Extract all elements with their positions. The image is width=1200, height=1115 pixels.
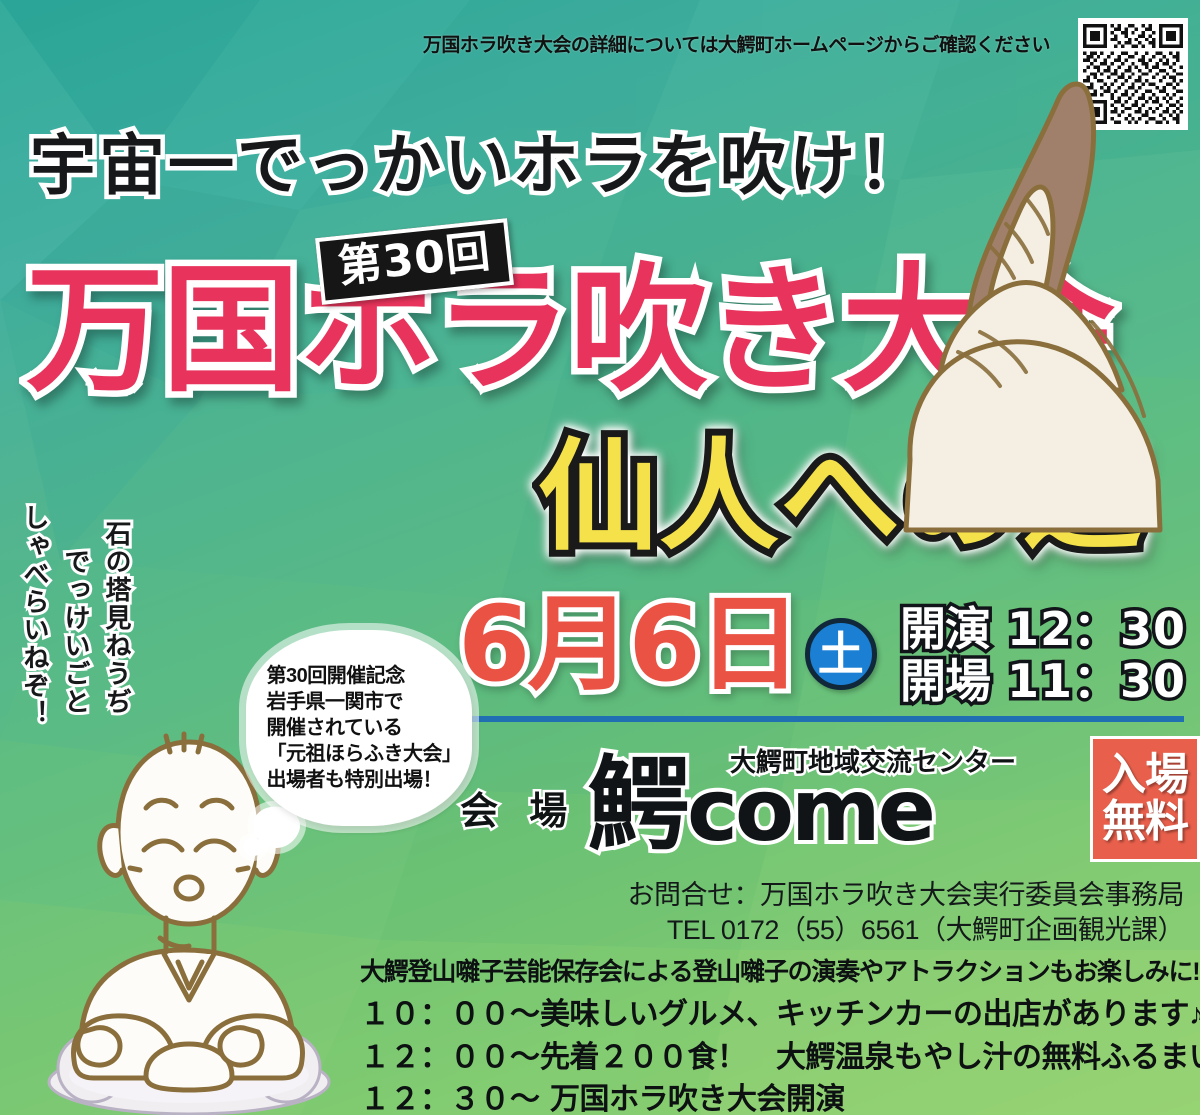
venue-name-latin: come: [687, 761, 933, 861]
stone-tower-mountain-icon: [830, 60, 1200, 540]
schedule-section: 大鰐登山囃子芸能保存会による登山囃子の演奏やアトラクションもお楽しみに!! １０…: [0, 952, 1200, 1115]
event-date: 6月6日 土: [458, 592, 877, 696]
venue-label: 会 場: [460, 780, 576, 835]
venue-section: 会 場 大鰐町地域交流センター 鰐come 入場 無料: [460, 742, 1200, 862]
schedule-row: １２：３０〜 万国ホラ吹き大会開演: [360, 1079, 1200, 1115]
speech-bubble-line-2: 岩手県一関市で: [267, 689, 462, 715]
schedule-time: １０：００〜: [360, 994, 540, 1037]
speech-bubble: 第30回開催記念 岩手県一関市で 開催されている 「元祖ほらふき大会」 出場者も…: [246, 630, 472, 826]
start-time-value: 12：30: [1007, 602, 1186, 656]
contact-line-1: お問合せ：万国ホラ吹き大会実行委員会事務局: [0, 878, 1184, 913]
vertical-note-line-2: でっけいごと: [57, 548, 94, 728]
venue-name-kanji: 鰐: [588, 746, 687, 865]
speech-bubble-line-4: 「元祖ほらふき大会」: [267, 741, 462, 767]
contact-info: お問合せ：万国ホラ吹き大会実行委員会事務局 TEL 0172（55）6561（大…: [0, 878, 1200, 948]
free-admission-line-1: 入場: [1102, 752, 1188, 799]
open-time-value: 11：30: [1007, 654, 1186, 708]
open-time-row: 開場 11：30: [900, 656, 1186, 708]
schedule-time: １２：００〜: [360, 1037, 540, 1080]
open-time-label: 開場: [900, 654, 990, 708]
schedule-desc: 万国ホラ吹き大会開演: [550, 1079, 845, 1115]
schedule-heading: 大鰐登山囃子芸能保存会による登山囃子の演奏やアトラクションもお楽しみに!!: [360, 952, 1200, 988]
vertical-note-line-1: 石の塔見ねうぢ: [98, 520, 135, 728]
speech-bubble-line-5: 出場者も特別出場！: [267, 767, 462, 793]
schedule-desc: 先着２００食！ 大鰐温泉もやし汁の無料ふるまい: [540, 1037, 1200, 1080]
event-date-value: 6月6日: [458, 592, 799, 696]
schedule-time: １２：３０〜: [360, 1079, 550, 1115]
schedule-row: １０：００〜 美味しいグルメ、キッチンカーの出店があります♪: [360, 994, 1200, 1037]
speech-bubble-tail-dot: [243, 838, 263, 856]
top-notice-text: 万国ホラ吹き大会の詳細については大鰐町ホームページからご確認ください: [0, 30, 1060, 57]
speech-bubble-line-1: 第30回開催記念: [267, 663, 462, 689]
free-admission-badge: 入場 無料: [1090, 736, 1200, 862]
speech-bubble-line-3: 開催されている: [267, 715, 462, 741]
start-time-label: 開演: [900, 602, 990, 656]
section-divider: [462, 716, 1184, 722]
contact-line-2: TEL 0172（55）6561（大鰐町企画観光課）: [0, 913, 1184, 948]
start-time-row: 開演 12：30: [900, 604, 1186, 656]
day-of-week-badge: 土: [805, 618, 877, 690]
event-times: 開演 12：30 開場 11：30: [900, 604, 1186, 707]
event-poster: 万国ホラ吹き大会の詳細については大鰐町ホームページからご確認ください: [0, 0, 1200, 1115]
schedule-desc: 美味しいグルメ、キッチンカーの出店があります♪: [540, 994, 1200, 1037]
schedule-row: １２：００〜 先着２００食！ 大鰐温泉もやし汁の無料ふるまい: [360, 1037, 1200, 1080]
catchcopy-text: 宇宙一でっかいホラを吹け！: [30, 112, 927, 208]
vertical-note-line-3: しゃべらいねぞ！: [16, 504, 53, 728]
vertical-note: 石の塔見ねうぢ でっけいごと しゃべらいねぞ！: [16, 498, 135, 728]
free-admission-line-2: 無料: [1102, 799, 1188, 846]
venue-name: 鰐come: [588, 746, 933, 866]
